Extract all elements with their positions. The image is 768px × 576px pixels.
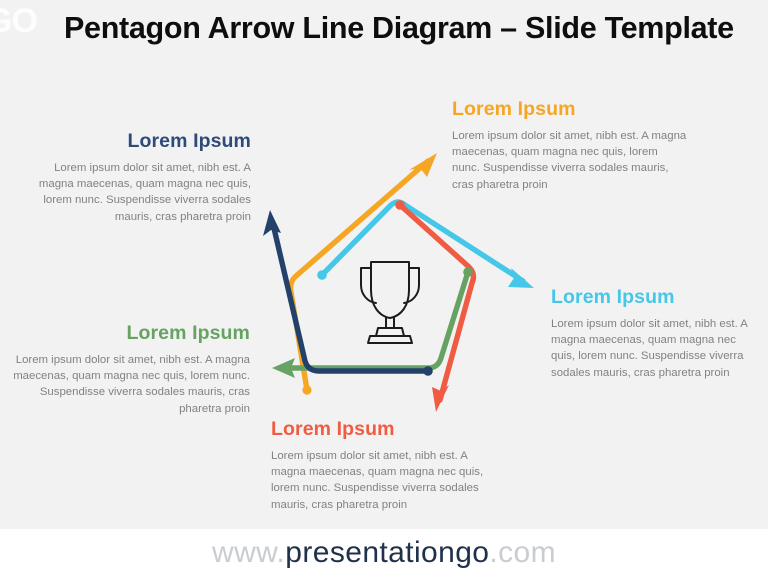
body-bottom: Lorem ipsum dolor sit amet, nibh est. A … [271,448,501,513]
body-bottom-left: Lorem ipsum dolor sit amet, nibh est. A … [12,352,250,417]
arrow-red [395,200,473,412]
arrow-green [272,267,473,378]
text-block-top-right: Lorem Ipsum Lorem ipsum dolor sit amet, … [452,98,688,193]
heading-right: Lorem Ipsum [551,286,761,309]
arrow-navy [263,210,433,376]
trophy-icon [361,262,419,343]
body-right: Lorem ipsum dolor sit amet, nibh est. A … [551,316,761,381]
text-block-right: Lorem Ipsum Lorem ipsum dolor sit amet, … [551,286,761,381]
url-suffix: .com [489,536,556,570]
heading-top-right: Lorem Ipsum [452,98,688,121]
page-title: Pentagon Arrow Line Diagram – Slide Temp… [64,10,754,47]
body-top-left: Lorem ipsum dolor sit amet, nibh est. A … [18,160,251,225]
body-top-right: Lorem ipsum dolor sit amet, nibh est. A … [452,128,688,193]
footer-url[interactable]: www.presentationgo.com [0,529,768,576]
arrow-orange [291,153,437,395]
heading-bottom: Lorem Ipsum [271,418,501,441]
url-prefix: www. [212,536,285,570]
watermark-logo: GO [0,2,37,41]
heading-bottom-left: Lorem Ipsum [12,322,250,345]
text-block-bottom: Lorem Ipsum Lorem ipsum dolor sit amet, … [271,418,501,513]
text-block-bottom-left: Lorem Ipsum Lorem ipsum dolor sit amet, … [12,322,250,417]
arrow-cyan [317,202,534,288]
url-name: presentationgo [285,536,489,570]
heading-top-left: Lorem Ipsum [18,130,251,153]
text-block-top-left: Lorem Ipsum Lorem ipsum dolor sit amet, … [18,130,251,225]
